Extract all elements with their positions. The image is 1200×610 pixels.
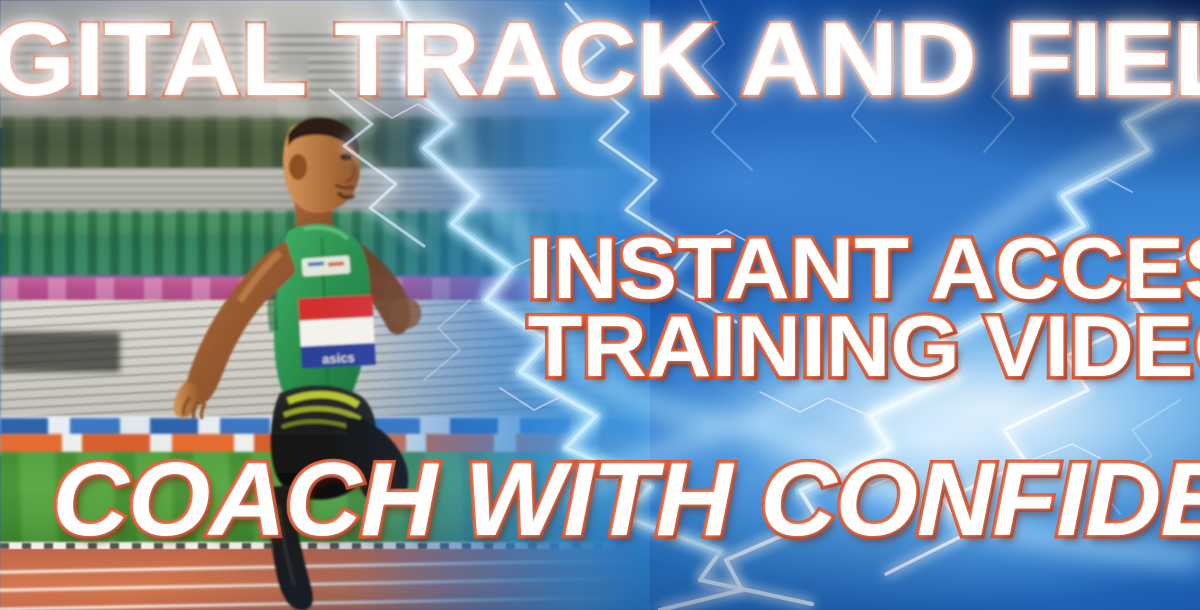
headline-text: DIGITAL TRACK AND FIELD: [0, 8, 1200, 112]
page-title: DIGITAL TRACK AND FIELD: [0, 8, 1200, 112]
tagline-text: COACH WITH CONFIDENCE: [52, 448, 1200, 552]
subhead-line-2-text: TRAINING VIDEOS: [528, 304, 1200, 390]
promo-banner: asics: [0, 0, 1200, 610]
subhead-line-2: TRAINING VIDEOS: [543, 304, 1200, 390]
tagline: COACH WITH CONFIDENCE: [66, 448, 1200, 552]
